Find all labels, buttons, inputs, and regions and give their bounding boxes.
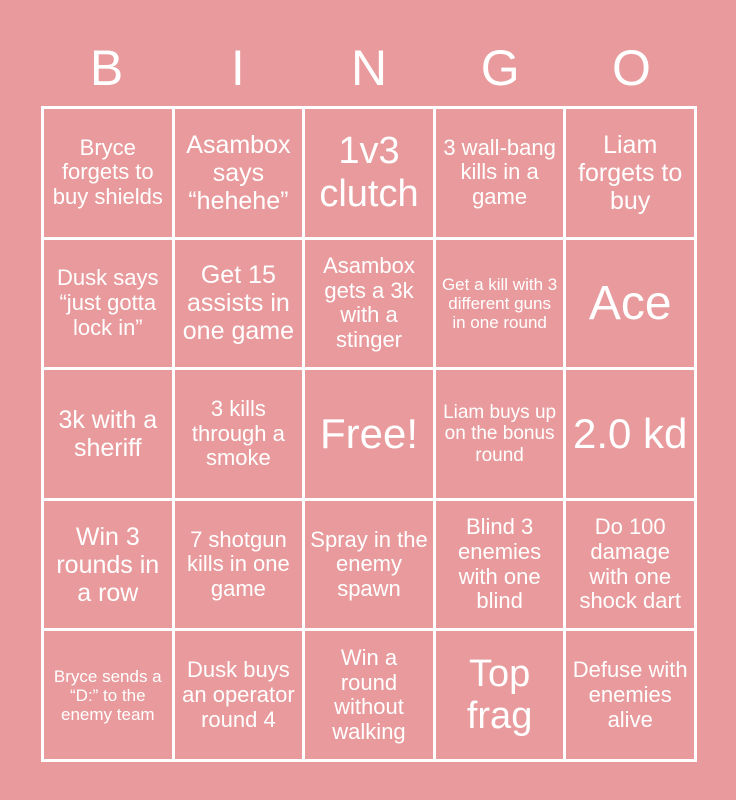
bingo-cell-free[interactable]: Free! [305, 370, 433, 498]
bingo-cell[interactable]: 1v3 clutch [305, 109, 433, 237]
bingo-cell[interactable]: Defuse with enemies alive [566, 631, 694, 759]
bingo-header: B I N G O [41, 30, 697, 106]
bingo-cell[interactable]: Top frag [436, 631, 564, 759]
bingo-cell[interactable]: Dusk buys an operator round 4 [175, 631, 303, 759]
bingo-cell[interactable]: Dusk says “just gotta lock in” [44, 240, 172, 368]
bingo-cell[interactable]: Do 100 damage with one shock dart [566, 501, 694, 629]
bingo-cell[interactable]: 7 shotgun kills in one game [175, 501, 303, 629]
bingo-cell[interactable]: 3k with a sheriff [44, 370, 172, 498]
header-letter-b: B [41, 30, 172, 106]
bingo-cell[interactable]: Asambox says “hehehe” [175, 109, 303, 237]
bingo-cell[interactable]: Bryce sends a “D:” to the enemy team [44, 631, 172, 759]
header-letter-g: G [435, 30, 566, 106]
bingo-cell[interactable]: Get 15 assists in one game [175, 240, 303, 368]
bingo-cell[interactable]: Bryce forgets to buy shields [44, 109, 172, 237]
bingo-cell[interactable]: Spray in the enemy spawn [305, 501, 433, 629]
bingo-grid: Bryce forgets to buy shields Asambox say… [41, 106, 697, 762]
header-letter-i: I [172, 30, 303, 106]
header-letter-o: O [566, 30, 697, 106]
bingo-cell[interactable]: Ace [566, 240, 694, 368]
bingo-cell[interactable]: Liam buys up on the bonus round [436, 370, 564, 498]
bingo-cell[interactable]: Liam forgets to buy [566, 109, 694, 237]
bingo-cell[interactable]: 3 kills through a smoke [175, 370, 303, 498]
bingo-cell[interactable]: Asambox gets a 3k with a stinger [305, 240, 433, 368]
bingo-cell[interactable]: Get a kill with 3 different guns in one … [436, 240, 564, 368]
bingo-cell[interactable]: 2.0 kd [566, 370, 694, 498]
bingo-cell[interactable]: Win 3 rounds in a row [44, 501, 172, 629]
bingo-card: B I N G O Bryce forgets to buy shields A… [0, 0, 736, 800]
bingo-cell[interactable]: Win a round without walking [305, 631, 433, 759]
header-letter-n: N [303, 30, 434, 106]
bingo-cell[interactable]: Blind 3 enemies with one blind [436, 501, 564, 629]
bingo-cell[interactable]: 3 wall-bang kills in a game [436, 109, 564, 237]
